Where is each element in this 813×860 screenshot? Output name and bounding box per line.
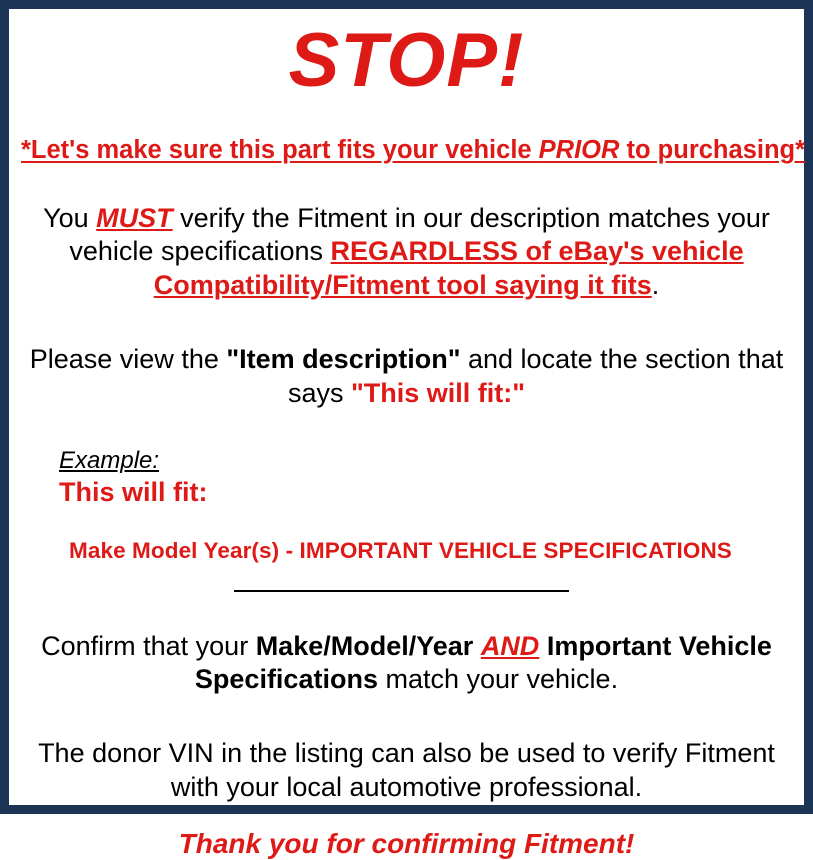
emphasis-must: MUST bbox=[96, 203, 173, 233]
thanks-line: Thank you for confirming Fitment! bbox=[21, 827, 792, 860]
emphasis-make-model-year: Make/Model/Year bbox=[256, 631, 474, 661]
confirm-paragraph: Confirm that your Make/Model/Year AND Im… bbox=[21, 630, 792, 698]
subtitle-emphasis-prior: PRIOR bbox=[539, 136, 620, 164]
subtitle-text-part1: *Let's make sure this part fits your veh… bbox=[21, 136, 539, 164]
example-block: Example: This will fit: Make Model Year(… bbox=[21, 448, 792, 563]
example-spec-line: Make Model Year(s) - IMPORTANT VEHICLE S… bbox=[69, 538, 792, 564]
page-title: STOP! bbox=[21, 23, 792, 99]
emphasis-this-will-fit: "This will fit:" bbox=[351, 378, 525, 408]
example-fits-label: This will fit: bbox=[59, 477, 792, 508]
must-paragraph-seg3: . bbox=[652, 270, 660, 300]
example-label: Example: bbox=[59, 448, 159, 474]
confirm-paragraph-seg1: Confirm that your bbox=[41, 631, 256, 661]
donor-vin-paragraph: The donor VIN in the listing can also be… bbox=[21, 737, 792, 805]
divider bbox=[21, 590, 792, 604]
subtitle-text-part2: to purchasing* bbox=[619, 136, 805, 164]
please-paragraph-seg1: Please view the bbox=[30, 344, 227, 374]
fitment-notice-card: STOP! *Let's make sure this part fits yo… bbox=[0, 0, 813, 814]
emphasis-and: AND bbox=[481, 631, 540, 661]
confirm-paragraph-seg2 bbox=[473, 631, 481, 661]
divider-rule bbox=[234, 590, 569, 592]
confirm-paragraph-seg3 bbox=[539, 631, 547, 661]
confirm-paragraph-seg4: match your vehicle. bbox=[378, 664, 618, 694]
example-label-row: Example: bbox=[59, 448, 792, 474]
subtitle-banner: *Let's make sure this part fits your veh… bbox=[21, 135, 792, 166]
must-verify-paragraph: You MUST verify the Fitment in our descr… bbox=[21, 202, 792, 303]
please-view-paragraph: Please view the "Item description" and l… bbox=[21, 343, 792, 411]
emphasis-item-description: "Item description" bbox=[226, 344, 460, 374]
must-paragraph-seg1: You bbox=[43, 203, 96, 233]
